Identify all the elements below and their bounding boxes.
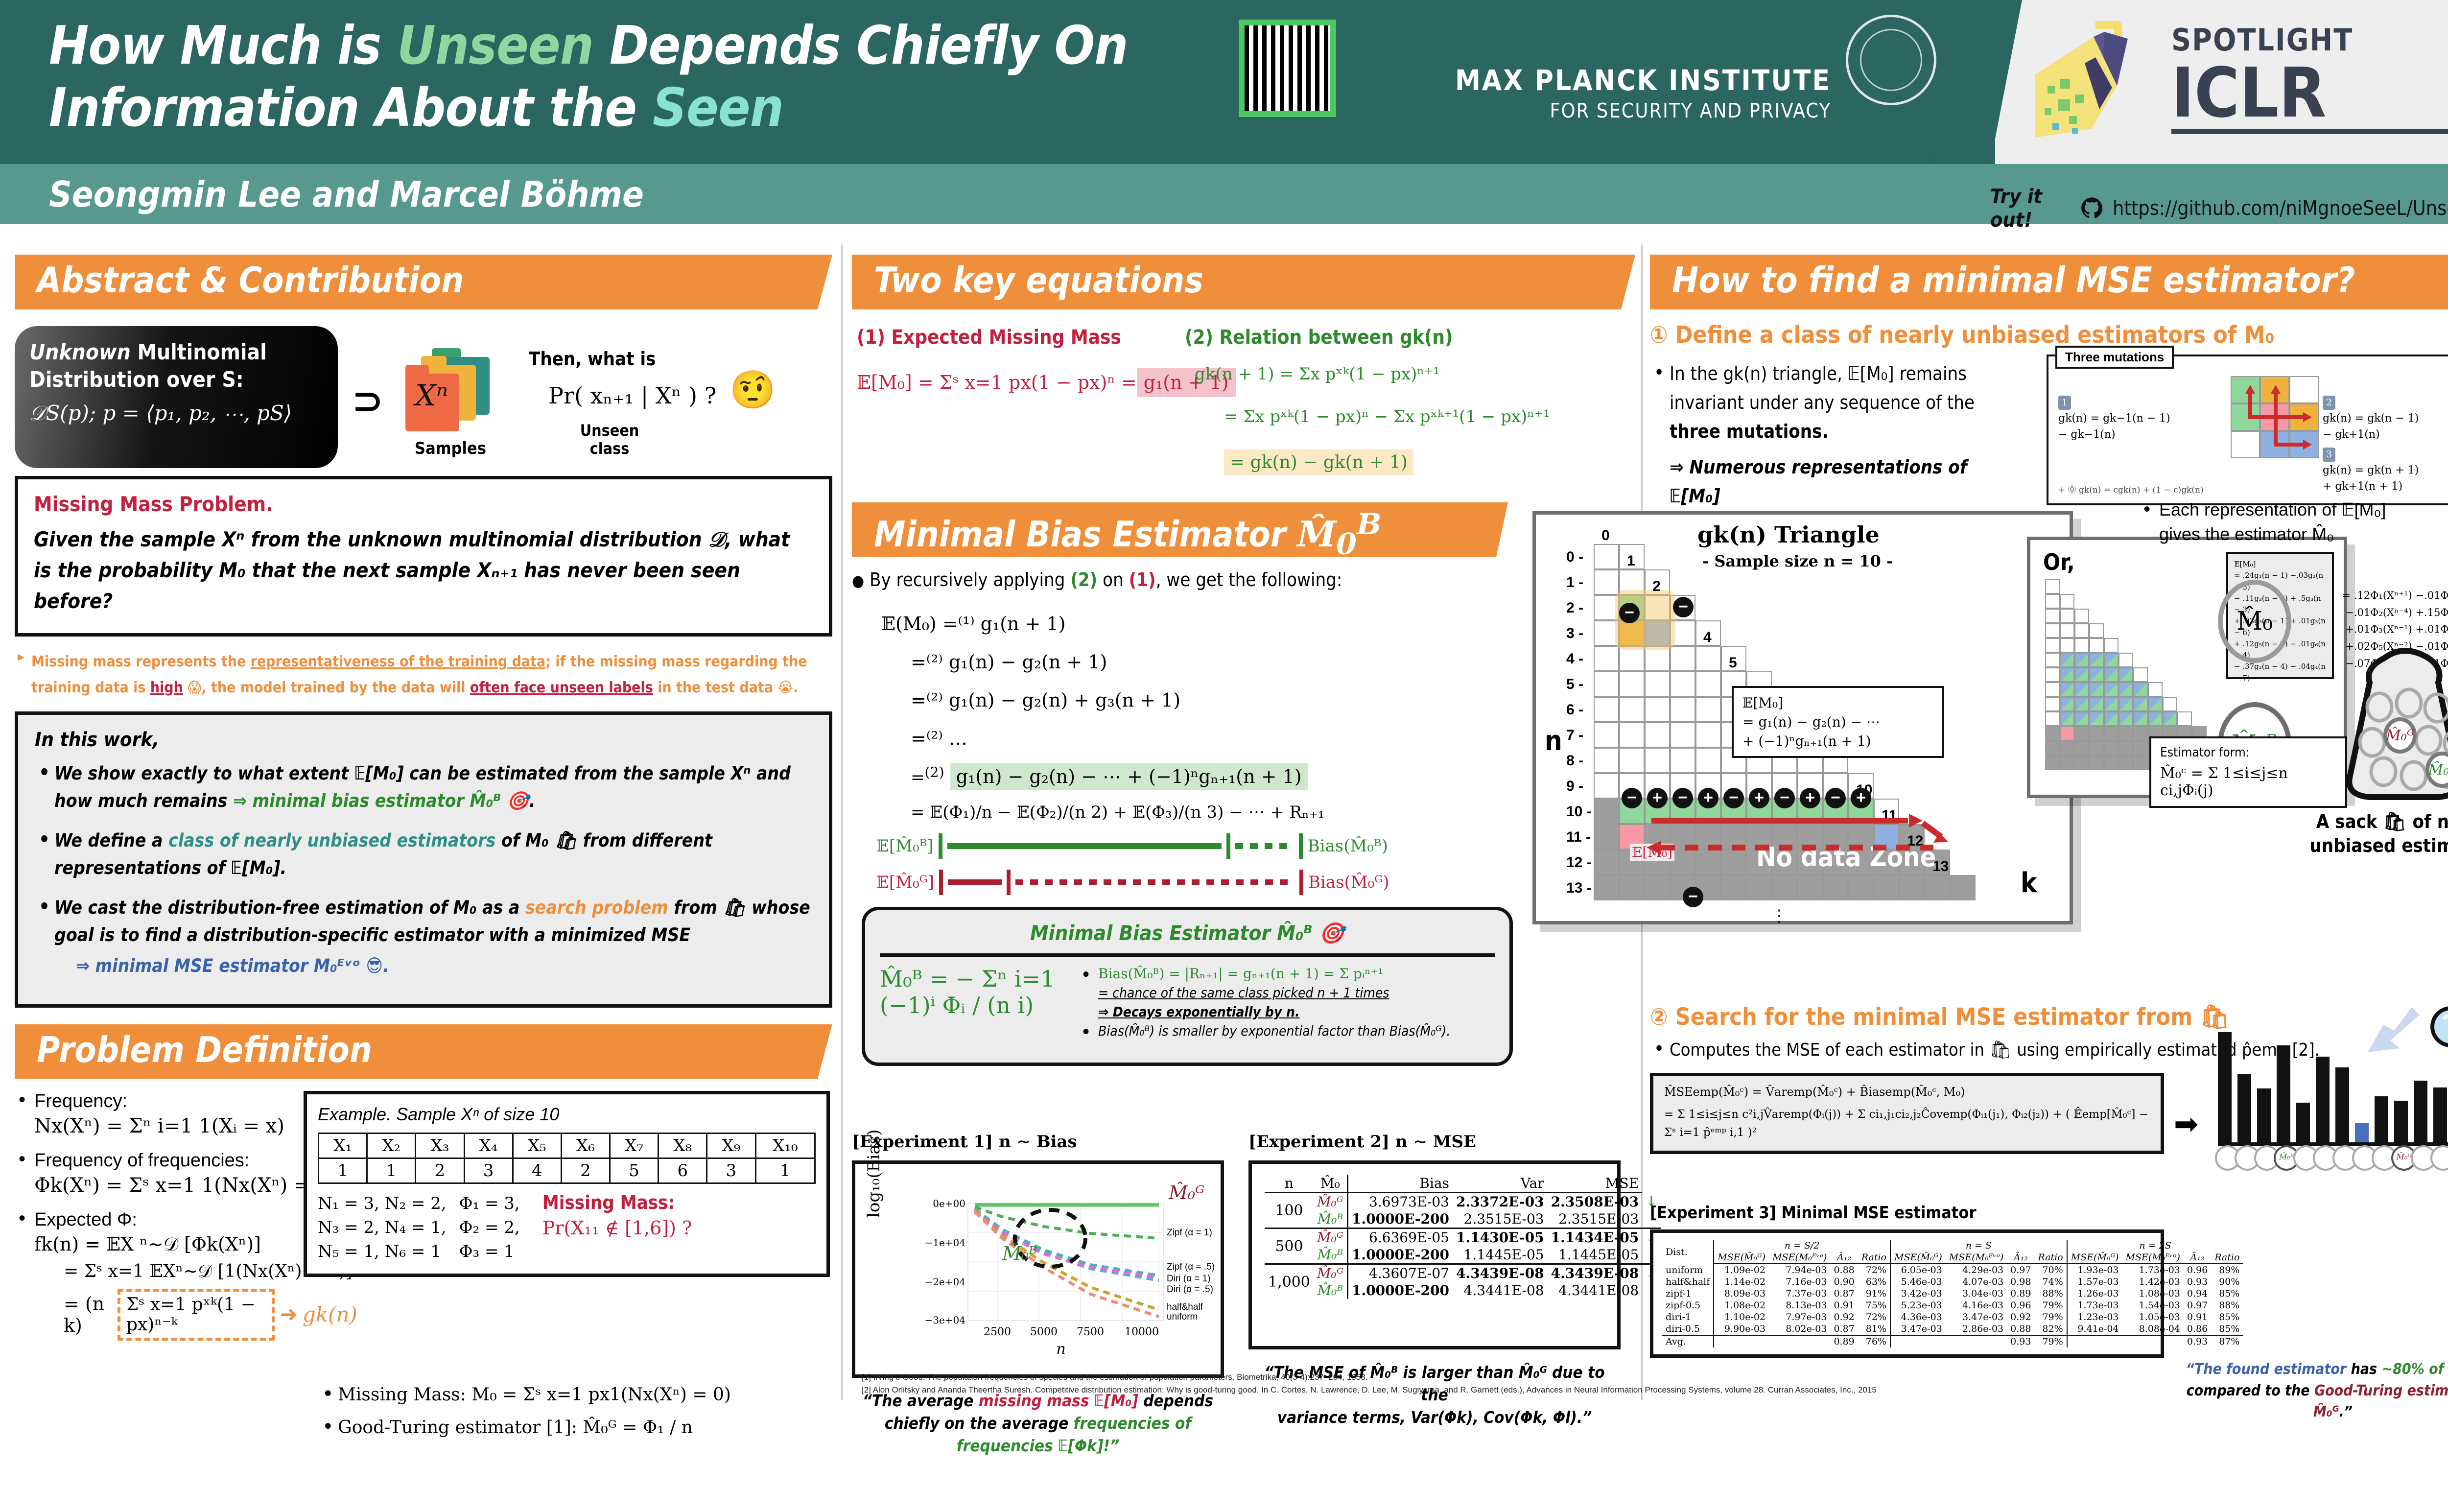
experiment-1-quote: “The average missing mass 𝔼[M₀] depends … [852, 1390, 1224, 1458]
estimator-expression-line: +.01Φ₃(Xⁿ⁻¹) +.01Φ₃(Xⁿ⁻⁶) [2286, 621, 2448, 638]
example-col-header: X₁₀ [755, 1133, 815, 1158]
or-triangle-cell [2045, 579, 2060, 594]
section-title-problem: Problem Definition [37, 1029, 372, 1070]
or-triangle-cell [2177, 711, 2192, 726]
missing-mass-definition: Missing Mass: M₀ = Σˢ x=1 px1(Nx(Xⁿ) = 0… [318, 1385, 832, 1405]
note-text-1: Missing mass represents the [31, 653, 251, 670]
equation-2-line2: = Σx pˣᵏ(1 − px)ⁿ − Σx pˣᵏ⁺¹(1 − px)ⁿ⁺¹ [1224, 407, 1550, 426]
example-cell: 2 [561, 1158, 610, 1183]
section-title-abstract: Abstract & Contribution [37, 260, 464, 301]
experiment-3-cell: 85% [2211, 1311, 2243, 1323]
experiment-2-col-header: M̂₀ [1314, 1175, 1347, 1193]
pointer-arrow-icon [2365, 1004, 2428, 1073]
or-triangle-cell [2074, 638, 2089, 653]
mse-bar [2277, 1045, 2290, 1142]
table-row: uniform1.09e-027.94e-030.8872%6.05e-034.… [1662, 1264, 2243, 1276]
example-col-header: X₃ [416, 1133, 464, 1158]
svg-text:0e+00: 0e+00 [933, 1198, 965, 1209]
experiment-3-cell: 0.87 [1830, 1288, 1858, 1299]
or-triangle-cell [2089, 667, 2104, 682]
step-1-title: ① Define a class of nearly unbiased esti… [1650, 321, 2448, 349]
experiment-3-cell: 4.07e-03 [1946, 1276, 2007, 1288]
sack-caption: A sack 🛍 of nearly unbiased estimators [2308, 810, 2448, 858]
svg-text:Diri (α = .5): Diri (α = .5) [1167, 1284, 1213, 1295]
minimal-bias-note-1: Bias(M̂₀ᴮ) = |Rₙ₊₁| = gₙ₊₁(n + 1) = Σ pᵢ… [1079, 966, 1495, 1020]
triangle-sign-extra: − [1619, 603, 1640, 623]
or-triangle-cell [2060, 667, 2074, 682]
def-frequency-label: Frequency: [34, 1091, 127, 1111]
example-cell: 2 [416, 1158, 464, 1183]
experiment-3-cell: 3.47e-03 [1946, 1311, 2007, 1323]
or-triangle-cell [2060, 609, 2074, 623]
or-triangle-cell [2060, 697, 2074, 711]
or-triangle-cell [2045, 609, 2060, 623]
experiment-3-sub-header-cell: Ratio [2034, 1252, 2067, 1264]
experiment-2-bias: 3.6973E-03 [1347, 1193, 1453, 1211]
experiment-2-var: 1.1430E-05 [1453, 1228, 1548, 1247]
note-underline-3: often face unseen labels [470, 679, 653, 696]
minimal-bias-estimator-box: Minimal Bias Estimator M̂₀ᴮ 🎯 M̂₀ᴮ = − Σ… [862, 907, 1513, 1066]
or-triangle-cell [2045, 623, 2060, 638]
bullet-2-highlight: class of nearly unbiased estimators [168, 830, 495, 851]
example-value-row: 1123425631 [319, 1158, 815, 1183]
triangle-red-arrows-icon [1536, 515, 2070, 921]
experiment-3-avg-cell [1946, 1335, 2007, 1347]
or-triangle-cell [2045, 594, 2060, 609]
experiment-3-cell: 90% [2211, 1276, 2243, 1288]
experiment-2-estimator: M̂₀ᴮ [1314, 1246, 1347, 1264]
example-title: Example. Sample Xⁿ of size 10 [318, 1104, 816, 1125]
or-triangle-cell [2045, 711, 2060, 726]
experiment-1-chart: log₁₀(Bias) 0e+00 −1e+04 [852, 1160, 1224, 1378]
then-what-is-label: Then, what is [529, 348, 656, 370]
title-part-3: Information About the [49, 77, 653, 139]
example-col-header: X₉ [707, 1133, 755, 1158]
or-triangle-cell [2089, 711, 2104, 726]
samples-stack-icon: Xⁿ [401, 348, 499, 453]
column-divider-1 [841, 245, 843, 1400]
author-list: Seongmin Lee and Marcel Böhme [49, 174, 644, 215]
section-title-two-equations: Two key equations [874, 260, 1203, 301]
experiment-2-col-header: Var [1453, 1175, 1548, 1193]
samples-glyph: Xⁿ [415, 378, 448, 413]
or-triangle-cell [2118, 682, 2133, 697]
experiment-3-dist-header: Dist. [1662, 1240, 1714, 1264]
mutation-1: 1 gk(n) = gk−1(n − 1) − gk−1(n) [2058, 378, 2170, 443]
probability-expression: Pr( xₙ₊₁ | Xⁿ ) ? [548, 382, 716, 409]
experiment-2-table: nM̂₀BiasVarMSE 100M̂₀ᴳ3.6973E-032.3372E-… [1265, 1175, 1661, 1299]
unknown-distribution-box: Unknown Multinomial Distribution over S:… [15, 326, 338, 468]
experiment-3-avg-label: Avg. [1662, 1335, 1714, 1347]
or-triangle-cell [2089, 697, 2104, 711]
experiment-3-cell: 1.93e-03 [2067, 1264, 2122, 1276]
experiment-2-estimator: M̂₀ᴳ [1314, 1264, 1347, 1282]
or-triangle-cell [2060, 726, 2074, 741]
experiment-3-dist: zipf-1 [1662, 1288, 1714, 1299]
table-row: M̂₀ᴮ1.0000E-2001.1445E-051.1445E-05 [1265, 1246, 1661, 1264]
example-stats: N₁ = 3, N₂ = 2, N₃ = 2, N₄ = 1, N₅ = 1, … [318, 1192, 816, 1264]
or-triangle-cell [2060, 682, 2074, 697]
experiment-2-n: 100 [1265, 1193, 1314, 1228]
estimator-expression-line: = .12Φ₁(Xⁿ⁺¹) −.01Φ₂(Xⁿ⁻³) [2286, 587, 2448, 604]
iclr-spotlight-label: SPOTLIGHT [2171, 22, 2448, 58]
experiment-2-mse: 1.1445E-05 [1548, 1246, 1643, 1264]
example-sample-table: X₁X₂X₃X₄X₅X₆X₇X₈X₉X₁₀ 1123425631 [318, 1133, 816, 1184]
svg-text:2500: 2500 [984, 1326, 1011, 1338]
or-triangle-cell [2045, 756, 2060, 770]
experiment-2-table-box: nM̂₀BiasVarMSE 100M̂₀ᴳ3.6973E-032.3372E-… [1248, 1160, 1621, 1349]
minimal-bias-equation: M̂₀ᴮ = − Σⁿ i=1 (−1)ⁱ Φᵢ / (n i) [880, 966, 1066, 1018]
experiment-3-sub-header-cell: Ratio [2211, 1252, 2243, 1264]
good-turing-definition: Good-Turing estimator [1]: M̂₀ᴳ = Φ₁ / n [318, 1417, 832, 1438]
svg-text:−2e+04: −2e+04 [924, 1276, 965, 1288]
experiment-3-avg-cell [1769, 1335, 1830, 1347]
bias-comparison-bars: 𝔼[M̂₀ᴮ] Bias(M̂₀ᴮ) 𝔼[M̂₀ᴳ] Bias(M̂₀ᴳ) [876, 833, 1439, 895]
svg-text:Diri (α = 1): Diri (α = 1) [1167, 1274, 1211, 1284]
three-mutations-title: Three mutations [2055, 346, 2174, 369]
example-cell: 1 [755, 1158, 815, 1183]
or-triangle-cell [2133, 756, 2148, 770]
or-triangle-cell [2104, 711, 2118, 726]
note-text-3: 😱, the model trained by the data will [183, 679, 470, 696]
thinking-face-emoji: 🤨 [730, 368, 776, 412]
experiment-3-cell: 8.08e-04 [2122, 1323, 2184, 1335]
or-triangle-cell [2148, 697, 2163, 711]
repo-url[interactable]: https://github.com/niMgnoeSeeL/UnseenGA [2113, 196, 2448, 220]
section-title-how-to: How to find a minimal MSE estimator? [1672, 260, 2355, 301]
svg-text:M̂₀ᴮ: M̂₀ᴮ [1002, 1243, 1037, 1264]
or-triangle-cell [2089, 726, 2104, 741]
experiment-3-cell: 5.23e-03 [1890, 1299, 1946, 1311]
experiment-3-dist: diri-1 [1662, 1311, 1714, 1323]
or-triangle-cell [2045, 653, 2060, 667]
magnifier-icon [2424, 1001, 2448, 1065]
or-triangle-cell [2045, 682, 2060, 697]
table-row: diri-0.59.90e-038.02e-030.8781%3.47e-032… [1662, 1323, 2243, 1335]
or-triangle-cell [2118, 726, 2133, 741]
experiment-2-mse: 2.3508E-03 [1548, 1193, 1643, 1211]
dist-parameter-vector: 𝒟S(p); p = ⟨p₁, p₂, ⋯, pS⟩ [29, 401, 323, 425]
experiment-3-cell: 0.96 [2007, 1299, 2034, 1311]
bullet-3-highlight: search problem [525, 897, 668, 918]
or-triangle-cell [2074, 697, 2089, 711]
experiment-3-cell: 70% [2034, 1264, 2067, 1276]
or-label: Or, [2043, 549, 2075, 575]
experiment-3-cell: 9.90e-03 [1714, 1323, 1769, 1335]
or-triangle-cell [2074, 667, 2089, 682]
estimator-expression-line: −.01Φ₂(Xⁿ⁻⁴) +.15Φ₃(Xⁿ⁻³) [2286, 604, 2448, 621]
or-triangle-cell [2074, 682, 2089, 697]
experiment-3-sub-header-cell: MSE(M₀ᴱᵛᵒ) [1946, 1252, 2007, 1264]
experiment-3-cell: 1.73e-03 [2067, 1299, 2122, 1311]
experiment-3-cell: 1.26e-03 [2067, 1288, 2122, 1299]
table-row: 500M̂₀ᴳ6.6369E-051.1430E-051.1434E-05↓ [1265, 1228, 1661, 1247]
experiment-3-cell: 0.91 [2184, 1311, 2211, 1323]
mutation-0: + ⓪ gk(n) = cgk(n) + (1 − c)gk(n) [2058, 483, 2204, 495]
triangle-sign-extra: − [1673, 597, 1694, 617]
experiment-2-mse: 2.3515E-03 [1548, 1210, 1643, 1228]
mse-bar [2394, 1101, 2408, 1143]
or-triangle-cell [2089, 756, 2104, 770]
experiment-3-cell: 7.97e-03 [1769, 1311, 1830, 1323]
def-gk-arrow-label: gk(n) [303, 1302, 357, 1326]
example-cell: 3 [464, 1158, 513, 1183]
experiment-3-average-row: Avg.0.8976%0.9379%0.9387% [1662, 1335, 2243, 1347]
column-right: How to find a minimal MSE estimator? ① D… [1650, 255, 2448, 1358]
experiment-3-cell: 0.92 [2007, 1311, 2034, 1323]
experiment-2-bias: 6.6369E-05 [1347, 1228, 1453, 1247]
experiment-3-cell: 0.97 [2184, 1299, 2211, 1311]
svg-text:Zipf (α = .5): Zipf (α = .5) [1167, 1262, 1215, 1272]
each-representation-bullet: Each representation of 𝔼[M₀] gives the e… [2140, 497, 2448, 547]
mse-bar [2218, 1032, 2232, 1142]
mse-bar-chart: M̂₀ᴮM̂₀ᴳ [2218, 1009, 2448, 1171]
experiment-2-estimator: M̂₀ᴮ [1314, 1282, 1347, 1299]
or-triangle-cell [2089, 623, 2104, 638]
experiment-3-cell: 0.88 [1830, 1264, 1858, 1276]
equation-2-line3: = gk(n) − gk(n + 1) [1224, 449, 1413, 475]
experiment-3-avg-cell: 0.89 [1830, 1335, 1858, 1347]
experiment-3-sub-header-cell: MSE(M̂₀ᴳ) [1714, 1252, 1769, 1264]
or-triangle-cell [2045, 638, 2060, 653]
experiment-3-cell: 1.08e-03 [2122, 1288, 2184, 1299]
experiment-2-col-header: MSE [1548, 1175, 1643, 1193]
experiment-3-sub-header-cell: Â₁₂ [2007, 1252, 2034, 1264]
mse-bar [2257, 1088, 2271, 1142]
title-seen-word: Seen [653, 77, 783, 139]
experiment-3-cell: 0.92 [1830, 1311, 1858, 1323]
table-row: half&half1.14e-027.16e-030.9063%5.46e-03… [1662, 1276, 2243, 1288]
or-triangle-cell [2089, 741, 2104, 756]
equation-2-title: (2) Relation between gk(n) [1185, 326, 1453, 349]
note-text-4: in the test data 😭. [653, 679, 798, 696]
or-triangle-cell [2133, 741, 2148, 756]
in-this-work-box: In this work, We show exactly to what ex… [15, 711, 832, 1008]
example-cell: 4 [513, 1158, 561, 1183]
mutation-grid [2231, 376, 2319, 459]
experiment-3-cell: 1.23e-03 [2067, 1311, 2122, 1323]
example-cell: 3 [707, 1158, 755, 1183]
or-triangle-cell [2074, 609, 2089, 623]
experiment-3-avg-cell [1890, 1335, 1946, 1347]
experiment-3-cell: 88% [2034, 1288, 2067, 1299]
experiments-row: [Experiment 1] n ∼ Bias log₁₀(Bias) [852, 1132, 1635, 1458]
experiment-3-cell: 3.04e-03 [1946, 1288, 2007, 1299]
mse-bar [2237, 1074, 2251, 1143]
column-middle: Two key equations (1) Expected Missing M… [852, 255, 1635, 1458]
iclr-conference-label: ICLR [2171, 61, 2448, 126]
experiment-3-avg-cell: 79% [2034, 1335, 2067, 1347]
qr-code-icon[interactable] [1239, 20, 1336, 117]
experiment-3-avg-cell [2122, 1335, 2184, 1347]
or-triangle-cell [2118, 667, 2133, 682]
or-triangle-cell [2089, 638, 2104, 653]
experiment-2-bias: 1.0000E-200 [1347, 1246, 1453, 1264]
or-triangle-cell [2045, 667, 2060, 682]
note-underline-1: representativeness of the training data [251, 653, 546, 670]
experiment-3-cell: 85% [2211, 1323, 2243, 1335]
equation-1-body: 𝔼[M₀] = Σˢ x=1 px(1 − px)ⁿ = [857, 372, 1137, 393]
experiment-3-cell: 0.86 [2184, 1323, 2211, 1335]
mse-equation-box: M̂SEemp(M̂₀ᶜ) = V̂aremp(M̂₀ᶜ) + B̂iasemp… [1650, 1073, 2164, 1154]
note-underline-2: high [150, 679, 183, 696]
experiment-2-var: 1.1445E-05 [1453, 1246, 1548, 1264]
experiment-3-group-header: Dist.n = S/2n = Sn = 2S [1662, 1240, 2243, 1252]
experiment-2-header-row: nM̂₀BiasVarMSE [1265, 1175, 1661, 1193]
experiment-3-avg-cell: 87% [2211, 1335, 2243, 1347]
svg-text:Zipf (α = 1): Zipf (α = 1) [1167, 1228, 1212, 1238]
three-mutations-box: Three mutations 1 gk(n) = gk−1(n − 1) − … [2047, 354, 2448, 505]
mse-equation-line-2: = Σ 1≤i≤j≤n c²i,jV̂aremp(Φᵢ(j)) + Σ ci₁,… [1664, 1106, 2150, 1142]
bullet-2-text: We define a [54, 830, 168, 851]
svg-text:7500: 7500 [1077, 1326, 1104, 1338]
experiment-2-bias: 1.0000E-200 [1347, 1282, 1453, 1299]
max-planck-logo-text: MAX PLANCK INSTITUTE FOR SECURITY AND PR… [1410, 64, 1831, 122]
experiment-2-col-header: n [1265, 1175, 1314, 1193]
experiment-3-avg-cell: 76% [1858, 1335, 1890, 1347]
experiment-3-cell: 8.09e-03 [1714, 1288, 1769, 1299]
experiment-2-title: [Experiment 2] n ∼ MSE [1248, 1132, 1621, 1152]
experiment-2-col-header: Bias [1347, 1175, 1453, 1193]
experiment-3-cell: 88% [2211, 1299, 2243, 1311]
bullet-3-text: We cast the distribution-free estimation… [54, 897, 525, 918]
experiment-3-dist: zipf-0.5 [1662, 1299, 1714, 1311]
mse-bar [2296, 1103, 2310, 1142]
example-N-values: N₁ = 3, N₂ = 2, N₃ = 2, N₄ = 1, N₅ = 1, … [318, 1192, 447, 1264]
right-arrow-icon: ➡ [2174, 1107, 2198, 1141]
derivation-step-1: 𝔼(M₀) =⁽¹⁾ g₁(n + 1) [881, 605, 1635, 643]
example-col-header: X₆ [561, 1133, 610, 1158]
or-triangle-cell [2074, 726, 2089, 741]
contribution-bullet-3: We cast the distribution-free estimation… [35, 894, 812, 980]
or-triangle-cell [2060, 711, 2074, 726]
estimator-form-box: Estimator form: M̂₀ᶜ = Σ 1≤i≤j≤n ci,jΦᵢ(… [2149, 736, 2347, 808]
derivation-steps: 𝔼(M₀) =⁽¹⁾ g₁(n + 1) =⁽²⁾ g₁(n) − g₂(n +… [881, 605, 1635, 830]
experiment-2-var: 4.3441E-08 [1453, 1282, 1548, 1299]
experiment-3-cell: 9.41e-04 [2067, 1323, 2122, 1335]
mse-equation-line-1: M̂SEemp(M̂₀ᶜ) = V̂aremp(M̂₀ᶜ) + B̂iasemp… [1664, 1085, 2150, 1099]
dist-over-s-label: Distribution over S: [29, 367, 244, 392]
experiment-1: [Experiment 1] n ∼ Bias log₁₀(Bias) [852, 1132, 1224, 1458]
missing-mass-definitions: Missing Mass: M₀ = Σˢ x=1 px1(Nx(Xⁿ) = 0… [318, 1385, 832, 1450]
bias-bar-minimal: 𝔼[M̂₀ᴮ] Bias(M̂₀ᴮ) [876, 833, 1439, 859]
representation-line: 𝔼[M₀] [2234, 559, 2326, 570]
column-left: Abstract & Contribution Unknown Multinom… [15, 255, 832, 1512]
svg-text:−3e+04: −3e+04 [924, 1314, 965, 1326]
step-1-conclusion: ⇒ Numerous representations of 𝔼[M₀] [1670, 453, 2022, 511]
or-triangle-cell [2133, 697, 2148, 711]
svg-text:5000: 5000 [1030, 1326, 1058, 1338]
experiment-3-cell: 6.05e-03 [1890, 1264, 1946, 1276]
experiment-3-dist: diri-0.5 [1662, 1323, 1714, 1335]
multinomial-label: Multinomial [131, 340, 267, 365]
experiment-3-cell: 2.86e-03 [1946, 1323, 2007, 1335]
example-col-header: X₂ [367, 1133, 416, 1158]
page-title: How Much is Unseen Depends Chiefly On In… [49, 15, 1200, 140]
experiment-3-sub-header-cell: MSE(M̂₀ᴳ) [2067, 1252, 2122, 1264]
experiment-2-bias: 4.3607E-07 [1347, 1264, 1453, 1282]
experiment-1-title: [Experiment 1] n ∼ Bias [852, 1132, 1224, 1152]
experiment-3-cell: 0.94 [2184, 1288, 2211, 1299]
unknown-label: Unknown [29, 340, 131, 365]
reference-1: [1] Irving J Good. The population freque… [862, 1371, 2428, 1384]
try-it-out-row: Try it out! https://github.com/niMgnoeSe… [1990, 193, 2448, 223]
step-1-bullet: In the gk(n) triangle, 𝔼[M₀] remains inv… [1650, 359, 2022, 510]
example-cell: 1 [319, 1158, 367, 1183]
or-triangle-cell [2118, 741, 2133, 756]
derivation-step-2: =⁽²⁾ g₁(n) − g₂(n + 1) [911, 643, 1635, 682]
iclr-text-block: SPOTLIGHT ICLR [2171, 22, 2448, 134]
or-triangle-cell [2060, 638, 2074, 653]
table-row: 1,000M̂₀ᴳ4.3607E-074.3439E-084.3439E-08↓ [1265, 1264, 1661, 1282]
derivation-step-final: = 𝔼(Φ₁)/n − 𝔼(Φ₂)/(n 2) + 𝔼(Φ₃)/(n 3) − … [911, 796, 1635, 830]
example-cell: 1 [367, 1158, 416, 1183]
example-col-header: X₄ [464, 1133, 513, 1158]
experiment-3-cell: 85% [2211, 1288, 2243, 1299]
derivation-step-4: =⁽²⁾ … [911, 720, 1635, 758]
example-cell: 5 [610, 1158, 659, 1183]
experiment-3-cell: 0.93 [2184, 1276, 2211, 1288]
experiment-3-group-header-cell: n = S [1890, 1240, 2067, 1252]
try-it-out-label: Try it out! [1990, 185, 2071, 232]
experiment-3-cell: 1.54e-03 [2122, 1299, 2184, 1311]
experiment-3-cell: 5.46e-03 [1890, 1276, 1946, 1288]
example-Phi-values: Φ₁ = 3, Φ₂ = 2, Φ₃ = 1 [459, 1192, 520, 1264]
experiment-3-cell: 0.98 [2007, 1276, 2034, 1288]
or-triangle-cell [2060, 756, 2074, 770]
experiment-3-avg-cell: 0.93 [2184, 1335, 2211, 1347]
mse-bar [2375, 1096, 2388, 1143]
experiment-2-estimator: M̂₀ᴳ [1314, 1228, 1347, 1247]
or-triangle-cell [2060, 653, 2074, 667]
example-col-header: X₇ [610, 1133, 659, 1158]
section-header-problem: Problem Definition [15, 1024, 832, 1079]
experiment-3-cell: 0.91 [1830, 1299, 1858, 1311]
or-triangle-cell [2104, 741, 2118, 756]
or-triangle-cell [2060, 623, 2074, 638]
experiment-2-mse: 4.3439E-08 [1548, 1264, 1643, 1282]
experiment-3-cell: 79% [2034, 1299, 2067, 1311]
mpi-line-1: MAX PLANCK INSTITUTE [1410, 64, 1831, 97]
github-icon[interactable] [2081, 194, 2103, 222]
or-triangle-cell [2104, 756, 2118, 770]
or-triangle-cell [2104, 667, 2118, 682]
or-triangle-cell [2060, 741, 2074, 756]
mse-bar [2355, 1123, 2369, 1143]
experiment-3-sub-header-cell: Â₁₂ [2184, 1252, 2211, 1264]
or-triangle-cell [2074, 623, 2089, 638]
or-triangle-cell [2104, 726, 2118, 741]
experiment-3-avg-cell [1714, 1335, 1769, 1347]
def-expected-phi-label: Expected Φ: [34, 1209, 137, 1230]
experiment-3-cell: 4.36e-03 [1890, 1311, 1946, 1323]
experiment-3-cell: 72% [1858, 1311, 1890, 1323]
experiment-3-cell: 8.13e-03 [1769, 1299, 1830, 1311]
experiment-3-cell: 1.05e-03 [2122, 1311, 2184, 1323]
experiment-3-sub-header-cell: Ratio [1858, 1252, 1890, 1264]
unseen-class-label: Unseen class [565, 422, 654, 458]
title-unseen-word: Unseen [397, 15, 593, 76]
chart-y-axis-label: log₁₀(Bias) [864, 1130, 884, 1218]
or-triangle-cell [2104, 653, 2118, 667]
example-box: Example. Sample Xⁿ of size 10 X₁X₂X₃X₄X₅… [304, 1091, 830, 1277]
or-triangle-cell [2074, 741, 2089, 756]
example-missing-mass-label: Missing Mass: [542, 1192, 692, 1213]
or-triangle-cell [2074, 756, 2089, 770]
svg-text:uniform: uniform [1167, 1312, 1198, 1322]
experiment-3-sub-header: MSE(M̂₀ᴳ)MSE(M₀ᴱᵛᵒ)Â₁₂RatioMSE(M̂₀ᴳ)MSE(… [1662, 1252, 2243, 1264]
experiment-3-cell: 4.29e-03 [1946, 1264, 2007, 1276]
